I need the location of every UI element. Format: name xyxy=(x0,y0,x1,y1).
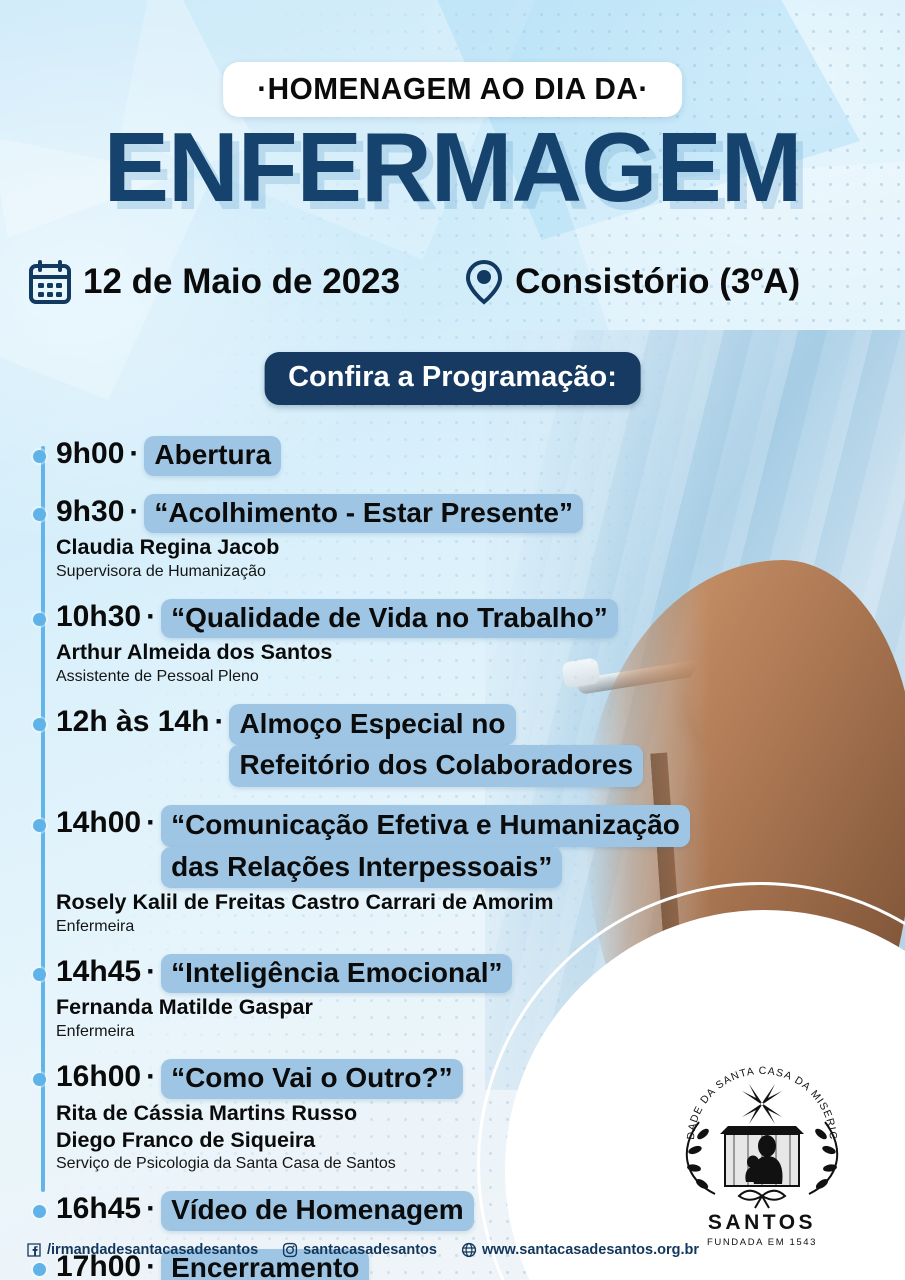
programme-item: 14h00·“Comunicação Efetiva e Humanização… xyxy=(56,805,756,936)
programme-item-speaker: Fernanda Matilde Gaspar xyxy=(56,995,756,1020)
programme-item-time: 9h30 xyxy=(56,494,128,529)
programme-item-title: Almoço Especial no xyxy=(229,704,515,746)
programme-item-title-wrap: “Acolhimento - Estar Presente” xyxy=(144,494,583,534)
facebook-handle: /irmandadesantacasadesantos xyxy=(47,1242,258,1258)
instagram-icon xyxy=(282,1242,298,1258)
programme-item-time: 14h45 xyxy=(56,954,145,989)
event-date-text: 12 de Maio de 2023 xyxy=(83,262,400,302)
programme-item-role: Assistente de Pessoal Pleno xyxy=(56,667,756,686)
programme-item-headline: 14h00·“Comunicação Efetiva e Humanização… xyxy=(56,805,756,888)
programme-item-role: Supervisora de Humanização xyxy=(56,562,756,581)
programme-item-time: 12h às 14h xyxy=(56,704,213,739)
programme-item: 9h30·“Acolhimento - Estar Presente”Claud… xyxy=(56,494,756,581)
instagram-handle: santacasadesantos xyxy=(303,1242,437,1258)
programme-item-time: 16h45 xyxy=(56,1191,145,1226)
timeline-dot xyxy=(33,718,46,731)
globe-icon xyxy=(461,1242,477,1258)
timeline-dot xyxy=(33,1073,46,1086)
programme-list: 9h00·Abertura9h30·“Acolhimento - Estar P… xyxy=(56,436,756,1280)
timeline-dot xyxy=(33,613,46,626)
website-link[interactable]: www.santacasadesantos.org.br xyxy=(461,1242,699,1258)
calendar-icon xyxy=(28,259,72,305)
programme-item-speaker: Claudia Regina Jacob xyxy=(56,535,756,560)
programme-item-headline: 14h45·“Inteligência Emocional” xyxy=(56,954,756,994)
programme-item-separator: · xyxy=(145,1191,161,1226)
programme-item-speaker: Rosely Kalil de Freitas Castro Carrari d… xyxy=(56,890,756,915)
instagram-link[interactable]: santacasadesantos xyxy=(282,1242,437,1258)
programme-item-headline: 16h00·“Como Vai o Outro?” xyxy=(56,1059,756,1099)
programme-item-headline: 16h45·Vídeo de Homenagem xyxy=(56,1191,756,1231)
programme-item: 12h às 14h·Almoço Especial noRefeitório … xyxy=(56,704,756,787)
programme-item-title-line2: Refeitório dos Colaboradores xyxy=(229,745,643,787)
programme-item-speaker: Rita de Cássia Martins Russo xyxy=(56,1101,756,1126)
programme-item-separator: · xyxy=(213,704,229,739)
programme-item: 16h45·Vídeo de Homenagem xyxy=(56,1191,756,1231)
programme-badge-text: Confira a Programação: xyxy=(288,361,617,394)
event-meta: 12 de Maio de 2023 Consistório (3ºA) xyxy=(28,258,888,306)
facebook-icon xyxy=(26,1242,42,1258)
timeline-dot xyxy=(33,1205,46,1218)
programme-item-title-wrap: Vídeo de Homenagem xyxy=(161,1191,474,1231)
programme-item-speaker: Arthur Almeida dos Santos xyxy=(56,640,756,665)
programme-item-headline: 10h30·“Qualidade de Vida no Trabalho” xyxy=(56,599,756,639)
programme-badge: Confira a Programação: xyxy=(264,352,641,405)
programme-item-title: “Inteligência Emocional” xyxy=(161,954,512,994)
programme-item: 16h00·“Como Vai o Outro?”Rita de Cássia … xyxy=(56,1059,756,1174)
event-location-text: Consistório (3ºA) xyxy=(515,262,800,302)
programme-item-separator: · xyxy=(145,954,161,989)
programme-item-separator: · xyxy=(145,599,161,634)
programme-item-title: “Acolhimento - Estar Presente” xyxy=(144,494,583,534)
website-url: www.santacasadesantos.org.br xyxy=(482,1242,699,1258)
map-pin-icon xyxy=(464,258,504,306)
programme-item-speaker-2: Diego Franco de Siqueira xyxy=(56,1128,756,1153)
programme-item-role: Serviço de Psicologia da Santa Casa de S… xyxy=(56,1154,756,1173)
programme-item-title-wrap: Abertura xyxy=(144,436,281,476)
programme-item: 9h00·Abertura xyxy=(56,436,756,476)
kicker-text: ·HOMENAGEM AO DIA DA· xyxy=(257,71,648,107)
programme-item-time: 14h00 xyxy=(56,805,145,840)
programme-item-time: 16h00 xyxy=(56,1059,145,1094)
event-location: Consistório (3ºA) xyxy=(464,258,800,306)
programme-item-time: 10h30 xyxy=(56,599,145,634)
programme-item-title: “Como Vai o Outro?” xyxy=(161,1059,463,1099)
programme-item-role: Enfermeira xyxy=(56,917,756,936)
programme-item-separator: · xyxy=(128,436,144,471)
programme-item-separator: · xyxy=(145,805,161,840)
programme-item-headline: 9h00·Abertura xyxy=(56,436,756,476)
programme-item-title-wrap: “Inteligência Emocional” xyxy=(161,954,512,994)
programme-item-title: Abertura xyxy=(144,436,281,476)
programme-item-title-line2: das Relações Interpessoais” xyxy=(161,847,562,889)
programme-item-separator: · xyxy=(128,494,144,529)
footer-social: /irmandadesantacasadesantos santacasades… xyxy=(26,1242,699,1258)
poster: IRMANDADE DA SANTA CASA DA MISERICÓRDIA xyxy=(0,0,905,1280)
event-date: 12 de Maio de 2023 xyxy=(28,259,400,305)
programme-item-title-wrap: “Qualidade de Vida no Trabalho” xyxy=(161,599,618,639)
programme-item-title-wrap: Almoço Especial noRefeitório dos Colabor… xyxy=(229,704,643,787)
programme-item-headline: 9h30·“Acolhimento - Estar Presente” xyxy=(56,494,756,534)
programme-item-separator: · xyxy=(145,1059,161,1094)
timeline-dot xyxy=(33,450,46,463)
programme-item-time: 9h00 xyxy=(56,436,128,471)
timeline-dot xyxy=(33,968,46,981)
timeline-dot xyxy=(33,819,46,832)
page-title: ENFERMAGEM xyxy=(0,118,905,216)
timeline-dot xyxy=(33,1263,46,1276)
facebook-link[interactable]: /irmandadesantacasadesantos xyxy=(26,1242,258,1258)
programme-item-title-wrap: “Como Vai o Outro?” xyxy=(161,1059,463,1099)
kicker-badge: ·HOMENAGEM AO DIA DA· xyxy=(223,62,683,117)
programme-item-title: “Qualidade de Vida no Trabalho” xyxy=(161,599,618,639)
programme-item-role: Enfermeira xyxy=(56,1022,756,1041)
programme-item: 10h30·“Qualidade de Vida no Trabalho”Art… xyxy=(56,599,756,686)
programme-item: 14h45·“Inteligência Emocional”Fernanda M… xyxy=(56,954,756,1041)
programme-item-title-wrap: “Comunicação Efetiva e Humanizaçãodas Re… xyxy=(161,805,690,888)
programme-item-title: “Comunicação Efetiva e Humanização xyxy=(161,805,690,847)
timeline-dot xyxy=(33,508,46,521)
programme-item-title: Vídeo de Homenagem xyxy=(161,1191,474,1231)
programme-item-headline: 12h às 14h·Almoço Especial noRefeitório … xyxy=(56,704,756,787)
